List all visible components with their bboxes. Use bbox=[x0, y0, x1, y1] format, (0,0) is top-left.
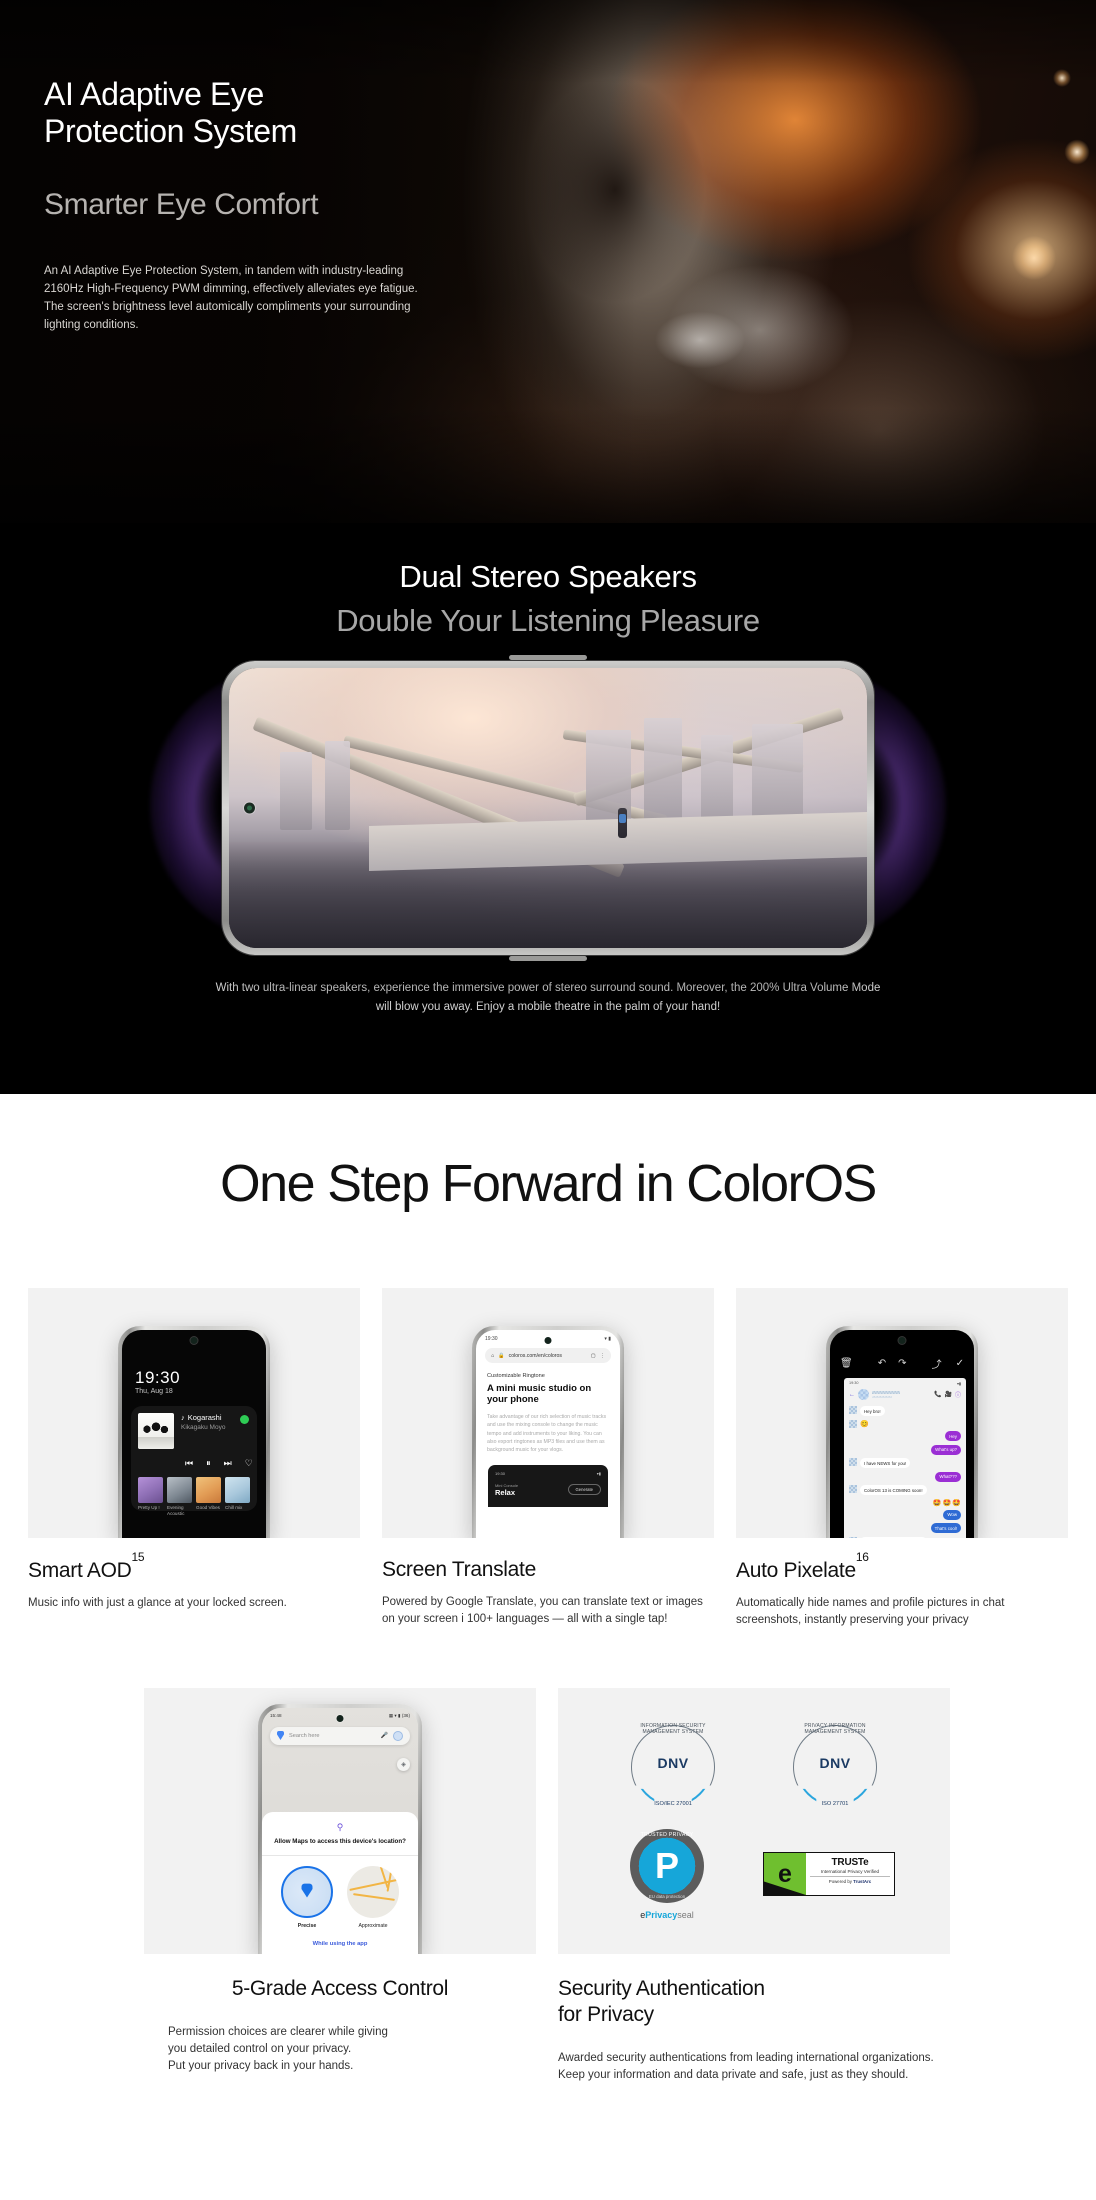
contact-name-pixelated bbox=[872, 1391, 931, 1399]
location-pin-icon: ⚲ bbox=[272, 1822, 408, 1833]
divider bbox=[262, 1855, 418, 1856]
badge-eprivacyseal: TRUSTED PRIVACY P EU data protection ePr… bbox=[613, 1829, 721, 1920]
map-road bbox=[353, 1893, 395, 1900]
chat-emoji: 😊 bbox=[860, 1420, 869, 1428]
phone-mockup-aod: 19:30 Thu, Aug 18 ♪ Kogarashi bbox=[118, 1326, 270, 1538]
dnv-brand: DNV bbox=[657, 1755, 688, 1771]
avatar-pixelated bbox=[849, 1485, 857, 1493]
auto-pixelate-image: 🗑 ↶ ↷ ⤴ ✓ bbox=[736, 1288, 1068, 1538]
permission-question: Allow Maps to access this device's locat… bbox=[272, 1838, 408, 1846]
chat-row: I have NEWS for you! bbox=[849, 1458, 961, 1468]
chat-time: 19:30 bbox=[849, 1381, 859, 1386]
chat-bubble: That's cool! bbox=[931, 1523, 961, 1533]
music-note-icon: ♪ bbox=[181, 1413, 185, 1422]
chat-bubble: And the launch event will be in bbox=[860, 1537, 927, 1539]
page-kicker: Customizable Ringtone bbox=[487, 1373, 609, 1379]
chat-status-bar: 19:30 ▾▮ bbox=[844, 1378, 966, 1386]
screen-translate-title: Screen Translate bbox=[382, 1558, 714, 1582]
truste-text-block: TRUSTe International Privacy Verified Po… bbox=[806, 1853, 894, 1895]
speaker-grille-top bbox=[509, 655, 587, 660]
badge-dnv-iso-27701: PRIVACY INFORMATION MANAGEMENT SYSTEM DN… bbox=[781, 1725, 889, 1809]
playlist-label: Evening Acoustic bbox=[167, 1505, 192, 1516]
hero-title-line-1: AI Adaptive Eye bbox=[44, 76, 264, 112]
playlist-label: Good Vibes bbox=[196, 1505, 221, 1511]
access-control-title: 5-Grade Access Control bbox=[144, 1976, 536, 2002]
page-body: Customizable Ringtone A mini music studi… bbox=[476, 1363, 620, 1455]
phone-mockup-maps: 15:48 ▦ ▾ ▮ (36) Search here 🎤 ◈ bbox=[258, 1704, 422, 1954]
front-camera-icon bbox=[899, 1337, 906, 1344]
back-arrow-icon[interactable]: ← bbox=[849, 1392, 855, 1398]
hero-copy: AI Adaptive Eye Protection System Smarte… bbox=[44, 76, 474, 335]
smart-aod-image: 19:30 Thu, Aug 18 ♪ Kogarashi bbox=[28, 1288, 360, 1538]
certification-row-top: INFORMATION SECURITY MANAGEMENT SYSTEM D… bbox=[592, 1714, 916, 1821]
dnv-ring: PRIVACY INFORMATION MANAGEMENT SYSTEM DN… bbox=[793, 1725, 877, 1809]
feature-card-security-authentication[interactable]: INFORMATION SECURITY MANAGEMENT SYSTEM D… bbox=[558, 1688, 950, 2085]
dnv-logo: DNV bbox=[646, 1755, 700, 1773]
spotify-status-icon bbox=[240, 1415, 249, 1424]
party-emoji-icon: 🤩 bbox=[943, 1499, 952, 1507]
security-auth-title: Security Authentication for Privacy bbox=[558, 1976, 950, 2029]
dual-stereo-speakers-section: Dual Stereo Speakers Double Your Listeni… bbox=[0, 523, 1096, 1094]
party-emoji-icon: 🤩 bbox=[933, 1499, 942, 1507]
playlist-label: Pretty Up ! bbox=[138, 1505, 163, 1511]
aod-date: Thu, Aug 18 bbox=[135, 1388, 173, 1395]
chat-bubble: I have NEWS for you! bbox=[860, 1458, 910, 1468]
coloros-title: One Step Forward in ColorOS bbox=[0, 1154, 1096, 1214]
chat-bubble: What's up? bbox=[931, 1445, 961, 1455]
chat-status-icons: ▾▮ bbox=[957, 1381, 961, 1386]
avatar-pixelated bbox=[849, 1537, 857, 1539]
eprivacy-caption-b: Privacy bbox=[645, 1910, 677, 1920]
info-icon[interactable]: ⓘ bbox=[955, 1390, 961, 1399]
dnv-brand: DNV bbox=[819, 1755, 850, 1771]
avatar-pixelated bbox=[849, 1406, 857, 1414]
dnv-iso-label: ISO 27701 bbox=[793, 1801, 877, 1807]
chat-row: 😊 bbox=[849, 1420, 961, 1428]
tabs-icon[interactable]: ▢ bbox=[591, 1353, 596, 1359]
chat-emoji-row: 🤩 🤩 🤩 bbox=[849, 1499, 961, 1507]
video-call-icon[interactable]: 🎥 bbox=[945, 1391, 952, 1398]
security-auth-description: Awarded security authentications from le… bbox=[558, 2050, 950, 2085]
chat-row: That's cool! bbox=[849, 1523, 961, 1533]
phone-mockup-pixelate: 🗑 ↶ ↷ ⤴ ✓ bbox=[826, 1326, 978, 1538]
pause-icon[interactable]: ⏸ bbox=[206, 1458, 211, 1469]
next-icon[interactable]: ⏭ bbox=[224, 1458, 232, 1469]
desc-line-3: Put your privacy back in your hands. bbox=[168, 2058, 512, 2075]
console-time: 19:30 bbox=[495, 1471, 505, 1476]
speakers-subtitle: Double Your Listening Pleasure bbox=[0, 603, 1096, 639]
console-titles: Mini Console Relax bbox=[495, 1483, 518, 1497]
aod-artist-name: Kikagaku Moyo bbox=[181, 1424, 250, 1431]
aod-track-meta: ♪ Kogarashi Kikagaku Moyo bbox=[181, 1413, 250, 1431]
phone-mockup-translate: 19:30 ▾ ▮ ⌂ 🔒 coloros.com/en/coloros ▢ ⋮ bbox=[472, 1326, 624, 1538]
permission-dialog: ⚲ Allow Maps to access this device's loc… bbox=[262, 1812, 418, 1954]
chat-header: ← 📞 🎥 ⓘ bbox=[844, 1386, 966, 1403]
chat-row: And the launch event will be in bbox=[849, 1537, 961, 1539]
album-art bbox=[138, 1413, 174, 1449]
front-camera-icon bbox=[545, 1337, 552, 1344]
playlist-label: Chill mix bbox=[225, 1505, 250, 1511]
speaker-grille-bottom bbox=[509, 956, 587, 961]
dnv-logo: DNV bbox=[808, 1755, 862, 1773]
translate-screen: 19:30 ▾ ▮ ⌂ 🔒 coloros.com/en/coloros ▢ ⋮ bbox=[476, 1330, 620, 1538]
aod-music-panel: ♪ Kogarashi Kikagaku Moyo ⏮ ⏸ bbox=[131, 1406, 257, 1511]
product-page: AI Adaptive Eye Protection System Smarte… bbox=[0, 0, 1096, 2200]
smart-aod-title: Smart AOD15 bbox=[28, 1558, 360, 1583]
chat-row: Hey bbox=[849, 1431, 961, 1441]
precise-pin-icon bbox=[302, 1883, 313, 1897]
auto-pixelate-description: Automatically hide names and profile pic… bbox=[736, 1595, 1068, 1630]
console-title: Relax bbox=[495, 1488, 518, 1497]
lock-icon: 🔒 bbox=[498, 1353, 504, 1359]
feature-card-access-control[interactable]: 15:48 ▦ ▾ ▮ (36) Search here 🎤 ◈ bbox=[144, 1688, 536, 2085]
feature-card-smart-aod[interactable]: 19:30 Thu, Aug 18 ♪ Kogarashi bbox=[28, 1288, 360, 1630]
playlist-thumb bbox=[138, 1477, 163, 1503]
speakers-phone-stage bbox=[168, 661, 928, 951]
screen-translate-description: Powered by Google Translate, you can tra… bbox=[382, 1594, 714, 1629]
eprivacy-seal-icon: TRUSTED PRIVACY P EU data protection bbox=[630, 1829, 704, 1903]
chat-screenshot: 19:30 ▾▮ ← 📞 🎥 ⓘ bbox=[844, 1378, 966, 1538]
hero-title: AI Adaptive Eye Protection System bbox=[44, 76, 474, 151]
chat-bubble: Hey bbox=[945, 1431, 961, 1441]
status-time: 15:48 bbox=[270, 1713, 282, 1719]
maps-background bbox=[262, 1708, 418, 1826]
status-time: 19:30 bbox=[485, 1336, 498, 1342]
option-approximate[interactable]: Approximate bbox=[347, 1866, 399, 1929]
hero-title-line-2: Protection System bbox=[44, 113, 297, 149]
playlist-thumb bbox=[196, 1477, 221, 1503]
home-icon[interactable]: ⌂ bbox=[491, 1353, 494, 1359]
certification-badges: INFORMATION SECURITY MANAGEMENT SYSTEM D… bbox=[558, 1688, 950, 1954]
heart-icon[interactable]: ♡ bbox=[245, 1458, 253, 1469]
maps-screen: 15:48 ▦ ▾ ▮ (36) Search here 🎤 ◈ bbox=[262, 1708, 418, 1954]
phone-landscape-mockup bbox=[222, 661, 874, 955]
eprivacy-bottom-text: EU data protection bbox=[630, 1894, 704, 1899]
chat-messages: Hey bro! 😊 Hey bbox=[844, 1403, 966, 1538]
security-auth-title-line-2: for Privacy bbox=[558, 2003, 654, 2026]
chat-row: What??? bbox=[849, 1472, 961, 1482]
eprivacy-caption: ePrivacyseal bbox=[613, 1910, 721, 1920]
truste-title: TRUSTe bbox=[810, 1857, 890, 1868]
access-control-image: 15:48 ▦ ▾ ▮ (36) Search here 🎤 ◈ bbox=[144, 1688, 536, 1954]
truste-powered-by: Powered by TrustArc bbox=[810, 1876, 890, 1884]
chat-row: Hey bro! bbox=[849, 1406, 961, 1416]
speakers-body-text: With two ultra-linear speakers, experien… bbox=[208, 979, 888, 1016]
redo-icon[interactable]: ↷ bbox=[898, 1358, 906, 1369]
scene-character bbox=[618, 808, 627, 838]
undo-icon[interactable]: ↶ bbox=[878, 1358, 886, 1369]
auto-pixelate-title: Auto Pixelate16 bbox=[736, 1558, 1068, 1583]
eprivacy-letter: P bbox=[630, 1829, 704, 1903]
dnv-iso-label: ISO/IEC 27001 bbox=[631, 1801, 715, 1807]
while-using-app-button[interactable]: While using the app bbox=[272, 1941, 408, 1947]
address-url[interactable]: coloros.com/en/coloros bbox=[509, 1353, 587, 1359]
phone-landscape-screen bbox=[229, 668, 867, 948]
playlist-tile[interactable]: Chill mix bbox=[225, 1477, 250, 1516]
microphone-icon[interactable]: 🎤 bbox=[381, 1732, 388, 1739]
console-status-icons: ▾▮ bbox=[597, 1471, 601, 1476]
truste-subtitle: International Privacy Verified bbox=[810, 1869, 890, 1874]
smart-aod-description: Music info with just a glance at your lo… bbox=[28, 1595, 360, 1612]
access-control-description: Permission choices are clearer while giv… bbox=[144, 2024, 536, 2076]
aod-now-playing: ♪ Kogarashi Kikagaku Moyo bbox=[138, 1413, 250, 1449]
certification-row-bottom: TRUSTED PRIVACY P EU data protection ePr… bbox=[592, 1821, 916, 1928]
security-badges-image: INFORMATION SECURITY MANAGEMENT SYSTEM D… bbox=[558, 1688, 950, 1954]
screen-translate-image: 19:30 ▾ ▮ ⌂ 🔒 coloros.com/en/coloros ▢ ⋮ bbox=[382, 1288, 714, 1538]
avatar-pixelated bbox=[849, 1420, 857, 1428]
front-camera-icon bbox=[191, 1337, 198, 1344]
option-precise-label: Precise bbox=[281, 1923, 333, 1929]
status-bar: 15:48 ▦ ▾ ▮ (36) bbox=[262, 1708, 418, 1719]
footnote-marker: 15 bbox=[132, 1550, 145, 1564]
ringtone-console-card: 19:30 ▾▮ Mini Console Relax Generate bbox=[488, 1465, 608, 1507]
coloros-feature-cards: 19:30 Thu, Aug 18 ♪ Kogarashi bbox=[0, 1288, 1096, 1630]
aod-playlist-tiles[interactable]: Pretty Up ! Evening Acoustic Good Vibes bbox=[138, 1477, 250, 1516]
status-icons: ▦ ▾ ▮ (36) bbox=[389, 1713, 410, 1719]
permission-options[interactable]: Precise bbox=[272, 1866, 408, 1929]
playlist-tile[interactable]: Good Vibes bbox=[196, 1477, 221, 1516]
speakers-title: Dual Stereo Speakers bbox=[0, 523, 1096, 595]
page-paragraph: Take advantage of our rich selection of … bbox=[487, 1413, 609, 1455]
feature-card-screen-translate[interactable]: 19:30 ▾ ▮ ⌂ 🔒 coloros.com/en/coloros ▢ ⋮ bbox=[382, 1288, 714, 1630]
maps-search-bar[interactable]: Search here 🎤 bbox=[270, 1727, 410, 1745]
party-emoji-icon: 🤩 bbox=[952, 1499, 961, 1507]
phone-call-icon[interactable]: 📞 bbox=[934, 1391, 941, 1398]
pixelate-screen: 🗑 ↶ ↷ ⤴ ✓ bbox=[830, 1330, 974, 1538]
coloros-privacy-cards: 15:48 ▦ ▾ ▮ (36) Search here 🎤 ◈ bbox=[0, 1688, 1096, 2085]
chat-bubble: What??? bbox=[935, 1472, 961, 1482]
coloros-section: One Step Forward in ColorOS 19:30 Thu, A… bbox=[0, 1094, 1096, 2085]
truste-e-icon bbox=[764, 1853, 806, 1895]
desc-line-2: you detailed control on your privacy. bbox=[168, 2041, 512, 2058]
playlist-thumb bbox=[167, 1477, 192, 1503]
playlist-tile[interactable]: Pretty Up ! bbox=[138, 1477, 163, 1516]
precise-map-preview bbox=[281, 1866, 333, 1918]
previous-icon[interactable]: ⏮ bbox=[185, 1458, 193, 1469]
card-title-text: Smart AOD bbox=[28, 1559, 132, 1582]
browser-address-bar[interactable]: ⌂ 🔒 coloros.com/en/coloros ▢ ⋮ bbox=[485, 1348, 611, 1363]
chat-row: Wow bbox=[849, 1510, 961, 1520]
hero-eye-protection-section: AI Adaptive Eye Protection System Smarte… bbox=[0, 0, 1096, 523]
truste-powered-brand: TrustArc bbox=[853, 1879, 871, 1884]
dnv-arc-text: PRIVACY INFORMATION MANAGEMENT SYSTEM bbox=[793, 1723, 877, 1735]
avatar[interactable] bbox=[393, 1731, 403, 1741]
game-scene-image bbox=[229, 668, 867, 948]
dnv-arc-text: INFORMATION SECURITY MANAGEMENT SYSTEM bbox=[631, 1723, 715, 1735]
truste-powered-prefix: Powered by bbox=[829, 1879, 853, 1884]
chat-row: ColorOS 13 is COMING soon! bbox=[849, 1485, 961, 1495]
chat-bubble: Wow bbox=[943, 1510, 961, 1520]
chat-bubble: ColorOS 13 is COMING soon! bbox=[860, 1485, 927, 1495]
avatar-pixelated bbox=[849, 1458, 857, 1466]
aod-screen: 19:30 Thu, Aug 18 ♪ Kogarashi bbox=[122, 1330, 266, 1538]
generate-button[interactable]: Generate bbox=[568, 1484, 601, 1495]
card-title-text: Screen Translate bbox=[382, 1558, 536, 1581]
badge-dnv-iso-27001: INFORMATION SECURITY MANAGEMENT SYSTEM D… bbox=[619, 1725, 727, 1809]
map-layers-icon[interactable]: ◈ bbox=[397, 1758, 410, 1771]
feature-card-auto-pixelate[interactable]: 🗑 ↶ ↷ ⤴ ✓ bbox=[736, 1288, 1068, 1630]
eprivacy-caption-c: seal bbox=[677, 1910, 694, 1920]
aod-time: 19:30 bbox=[135, 1368, 180, 1388]
security-auth-title-line-1: Security Authentication bbox=[558, 1977, 765, 2000]
page-headline: A mini music studio on your phone bbox=[487, 1383, 609, 1406]
badge-truste: TRUSTe International Privacy Verified Po… bbox=[763, 1852, 895, 1896]
avatar-pixelated bbox=[858, 1389, 869, 1400]
trash-icon[interactable]: 🗑 bbox=[840, 1358, 853, 1369]
playlist-thumb bbox=[225, 1477, 250, 1503]
scene-building bbox=[280, 752, 312, 830]
desc-line-1: Permission choices are clearer while giv… bbox=[168, 2024, 512, 2041]
playlist-tile[interactable]: Evening Acoustic bbox=[167, 1477, 192, 1516]
console-status-bar: 19:30 ▾▮ bbox=[495, 1471, 601, 1476]
check-icon[interactable]: ✓ bbox=[956, 1358, 964, 1369]
aod-song-name: Kogarashi bbox=[188, 1413, 222, 1422]
front-camera-icon bbox=[244, 803, 255, 814]
chat-row: What's up? bbox=[849, 1445, 961, 1455]
option-precise[interactable]: Precise bbox=[281, 1866, 333, 1929]
footnote-marker: 16 bbox=[856, 1550, 869, 1564]
option-approximate-label: Approximate bbox=[347, 1923, 399, 1929]
approximate-map-preview bbox=[347, 1866, 399, 1918]
menu-icon[interactable]: ⋮ bbox=[600, 1353, 605, 1359]
search-input[interactable]: Search here bbox=[289, 1733, 376, 1739]
dnv-ring: INFORMATION SECURITY MANAGEMENT SYSTEM D… bbox=[631, 1725, 715, 1809]
aod-playback-controls[interactable]: ⏮ ⏸ ⏭ ♡ bbox=[138, 1458, 250, 1469]
screenshot-toolbar[interactable]: 🗑 ↶ ↷ ⤴ ✓ bbox=[830, 1356, 974, 1371]
share-icon[interactable]: ⤴ bbox=[932, 1356, 942, 1371]
status-icons: ▾ ▮ bbox=[604, 1336, 611, 1342]
console-row: Mini Console Relax Generate bbox=[495, 1483, 601, 1497]
maps-pin-icon bbox=[277, 1731, 284, 1740]
scene-building bbox=[325, 741, 351, 831]
chat-bubble: Hey bro! bbox=[860, 1406, 885, 1416]
hero-subtitle: Smarter Eye Comfort bbox=[44, 187, 474, 223]
card-title-text: Auto Pixelate bbox=[736, 1559, 856, 1582]
hero-body-text: An AI Adaptive Eye Protection System, in… bbox=[44, 263, 436, 335]
